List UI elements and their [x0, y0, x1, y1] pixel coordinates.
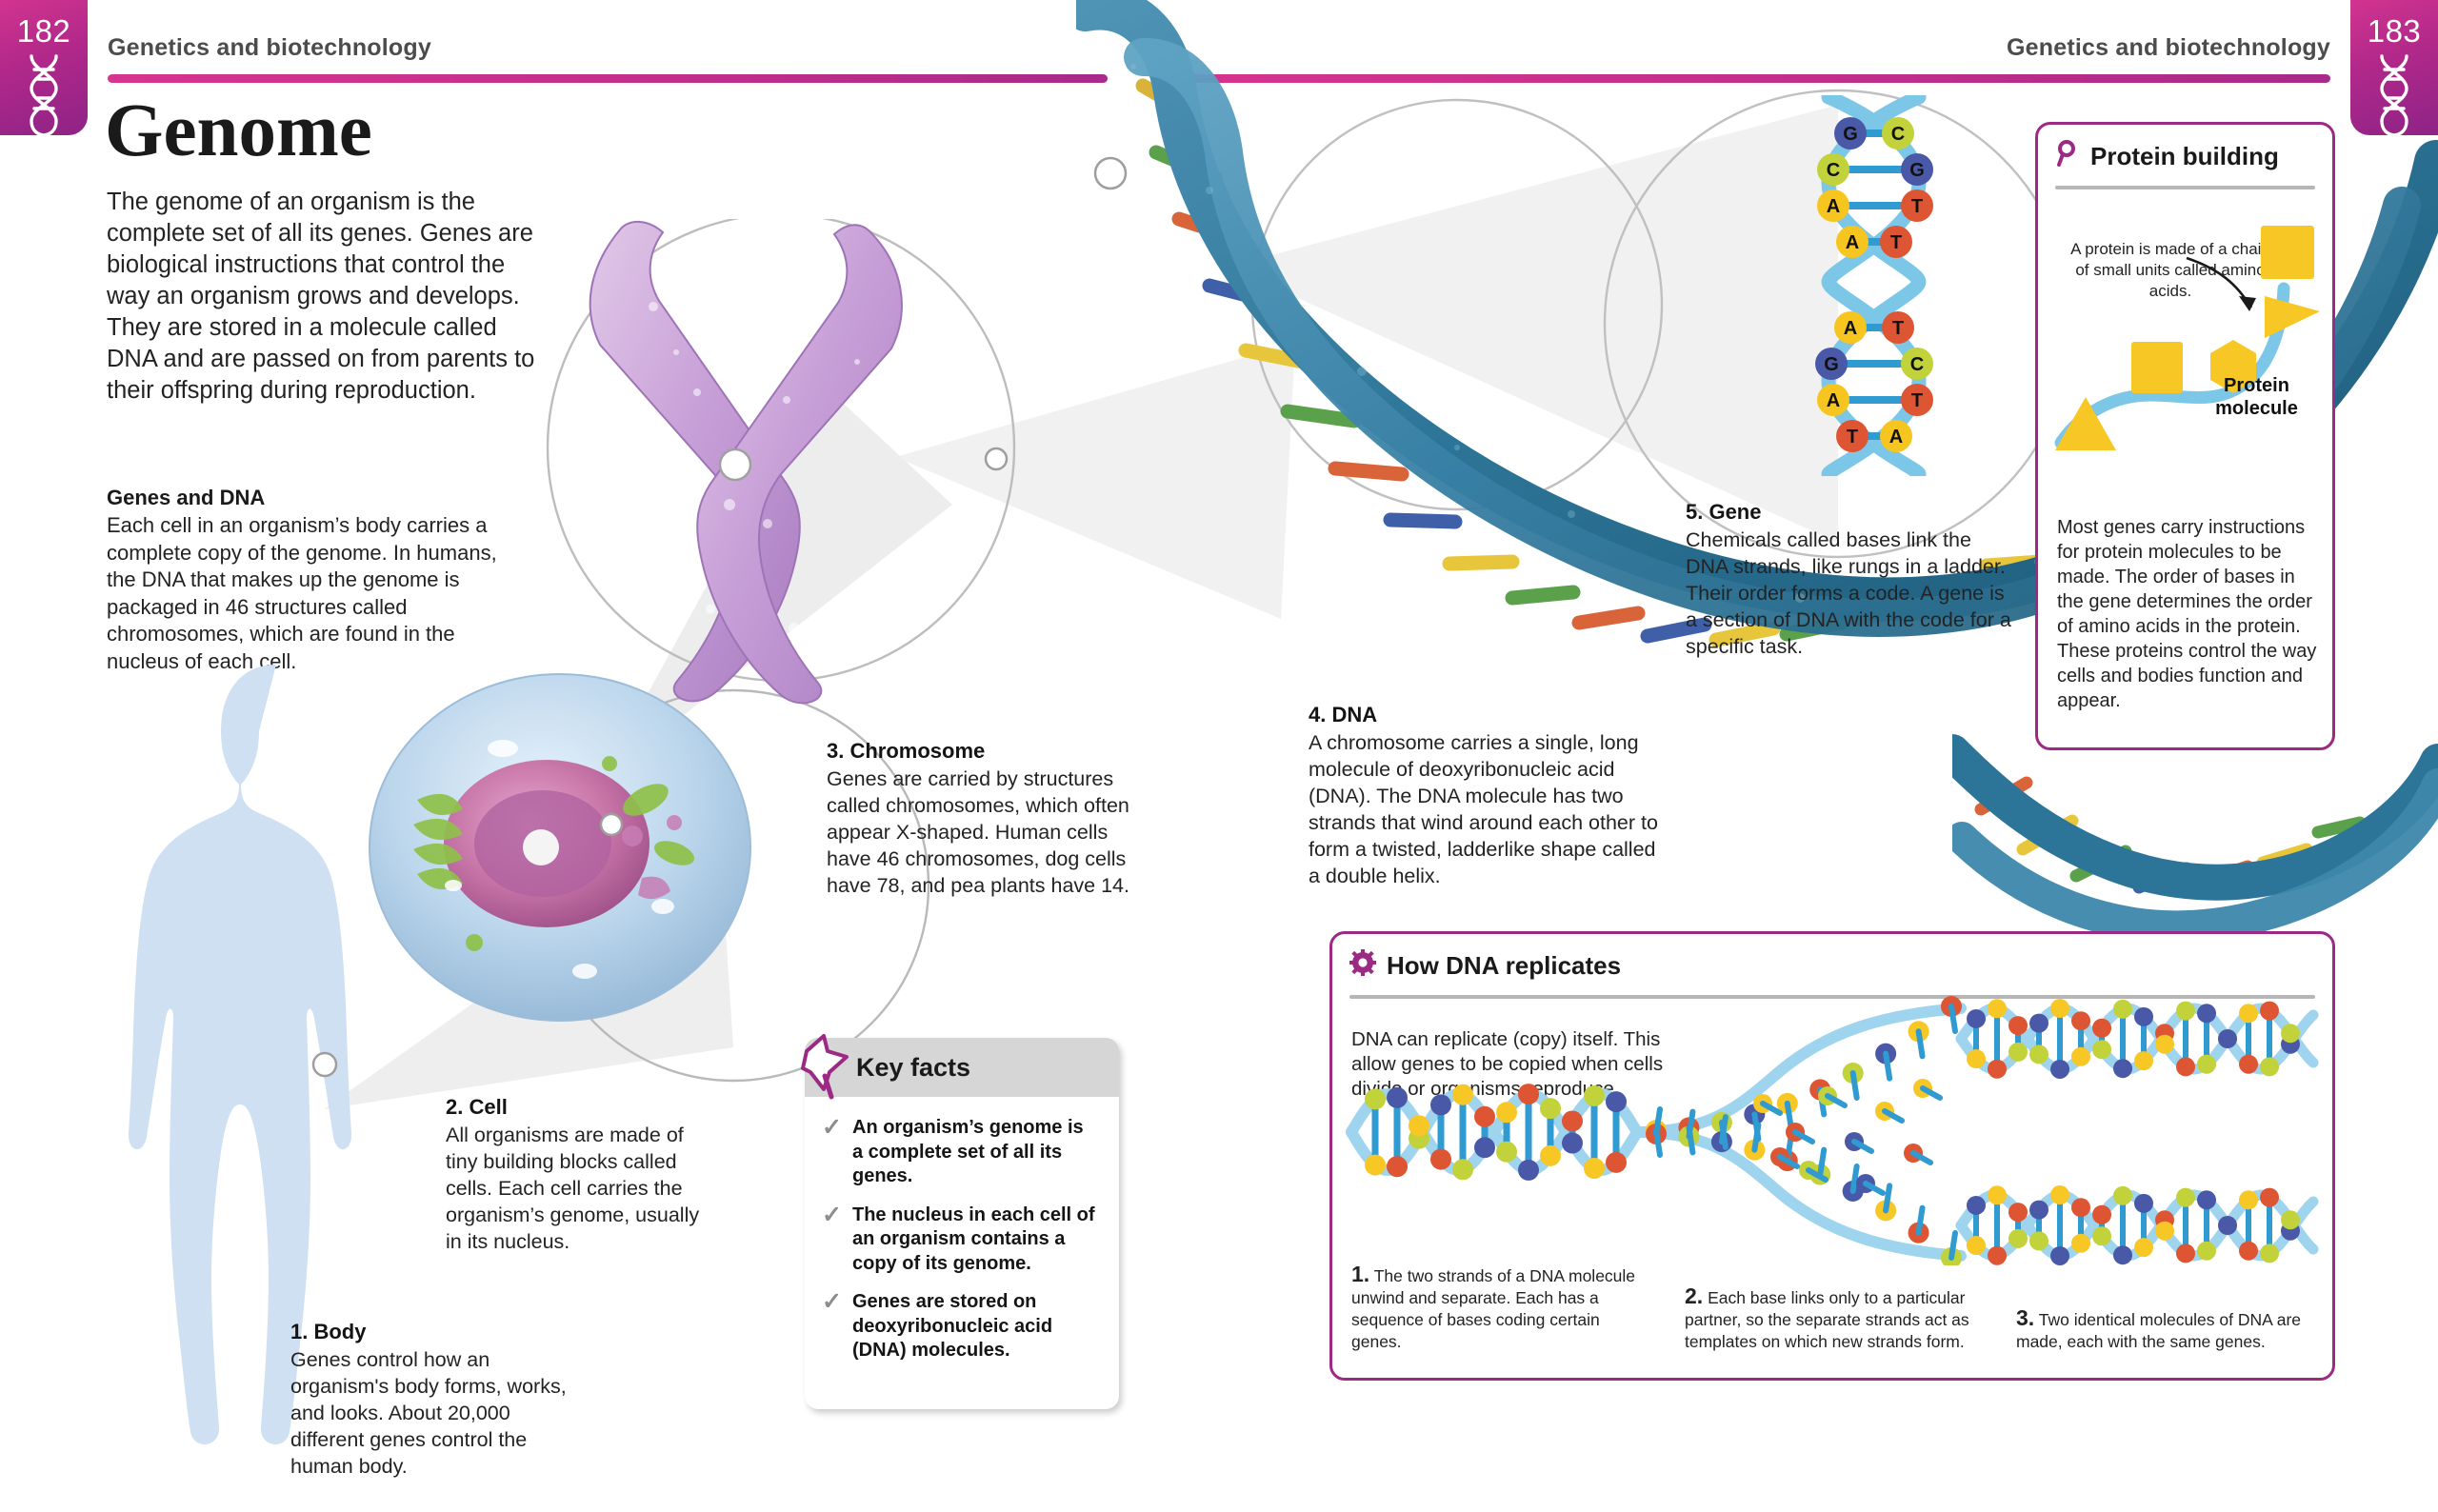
replication-step-text: The two strands of a DNA molecule unwind…: [1351, 1266, 1635, 1351]
gene-base-pair-diagram: GCCGATATATGCATTA: [1776, 95, 1976, 476]
cell-illustration: [360, 657, 760, 1038]
check-icon: ✓: [822, 1290, 843, 1363]
callout-body-body: Genes control how an organism's body for…: [290, 1346, 586, 1480]
svg-text:C: C: [1827, 160, 1840, 181]
callout-dot-chromosome: [983, 446, 1009, 472]
svg-text:C: C: [1891, 124, 1905, 145]
callout-body-chromosome: Genes are carried by structures called c…: [827, 766, 1141, 899]
panel-divider: [2055, 186, 2315, 189]
key-fact-text: An organism’s genome is a complete set o…: [852, 1116, 1098, 1189]
svg-text:A: A: [1889, 427, 1903, 448]
encyclopedia-spread: 182 183: [0, 0, 2438, 1512]
pin-icon: [799, 1030, 860, 1105]
callout-body-gene: Chemicals called bases link the DNA stra…: [1686, 527, 2014, 660]
replication-step-text: Each base links only to a particular par…: [1685, 1288, 1969, 1351]
check-icon: ✓: [822, 1116, 843, 1189]
dna-helix-icon: [24, 54, 64, 141]
svg-text:G: G: [1909, 160, 1925, 181]
protein-molecule-label: Protein molecule: [2181, 374, 2332, 420]
svg-text:A: A: [1846, 232, 1859, 253]
key-fact-text: Genes are stored on deoxyribonucleic aci…: [852, 1290, 1098, 1363]
svg-text:C: C: [1910, 354, 1924, 375]
svg-text:G: G: [1824, 354, 1839, 375]
replication-step-number: 1.: [1351, 1262, 1369, 1286]
replication-panel-header: How DNA replicates: [1332, 934, 2332, 983]
svg-text:A: A: [1827, 196, 1840, 217]
svg-text:T: T: [1911, 196, 1923, 217]
key-fact-item: ✓ An organism’s genome is a complete set…: [822, 1116, 1098, 1189]
key-fact-item: ✓ Genes are stored on deoxyribonucleic a…: [822, 1290, 1098, 1363]
callout-dot-body: [310, 1050, 339, 1079]
replication-step-number: 2.: [1685, 1283, 1703, 1308]
callout-dot-cell: [598, 811, 625, 838]
check-icon: ✓: [822, 1204, 843, 1277]
dna-replication-panel: How DNA replicates DNA can replicate (co…: [1329, 931, 2335, 1381]
callout-heading-body: 1. Body: [290, 1320, 366, 1344]
svg-text:T: T: [1911, 390, 1923, 411]
section-heading-genes-and-dna: Genes and DNA: [107, 486, 265, 510]
svg-text:G: G: [1843, 124, 1858, 145]
protein-panel-title: Protein building: [2090, 142, 2279, 171]
protein-panel-header: Protein building: [2038, 125, 2332, 173]
magnifier-icon: [2055, 140, 2080, 173]
replication-step-text: Two identical molecules of DNA are made,…: [2016, 1310, 2301, 1351]
callout-heading-cell: 2. Cell: [446, 1095, 508, 1120]
callout-heading-chromosome: 3. Chromosome: [827, 739, 985, 764]
svg-text:A: A: [1844, 318, 1857, 339]
key-fact-text: The nucleus in each cell of an organism …: [852, 1204, 1098, 1277]
page-number-left: 182: [17, 15, 71, 47]
gear-icon: [1349, 949, 1376, 983]
running-head-left: Genetics and biotechnology: [108, 34, 431, 62]
replication-step: 1. The two strands of a DNA molecule unw…: [1351, 1263, 1654, 1353]
svg-text:A: A: [1827, 390, 1840, 411]
callout-body-cell: All organisms are made of tiny building …: [446, 1122, 712, 1255]
header-rule-left: [108, 74, 1108, 83]
key-fact-item: ✓ The nucleus in each cell of an organis…: [822, 1204, 1098, 1277]
protein-panel-body: Most genes carry instructions for protei…: [2057, 515, 2322, 713]
replication-step: 3. Two identical molecules of DNA are ma…: [2016, 1307, 2319, 1353]
page-title: Genome: [105, 93, 372, 169]
key-facts-list: ✓ An organism’s genome is a complete set…: [805, 1097, 1119, 1363]
replication-panel-title: How DNA replicates: [1387, 951, 1621, 981]
protein-building-panel: Protein building A protein is made of a …: [2035, 122, 2335, 750]
svg-text:T: T: [1847, 427, 1858, 448]
callout-heading-dna: 4. DNA: [1309, 703, 1377, 727]
svg-text:T: T: [1892, 318, 1904, 339]
page-tab-left: 182: [0, 0, 88, 135]
dna-replication-diagram: [1332, 989, 2332, 1265]
replication-step: 2. Each base links only to a particular …: [1685, 1285, 1988, 1353]
svg-text:T: T: [1890, 232, 1902, 253]
callout-body-dna: A chromosome carries a single, long mole…: [1309, 729, 1661, 889]
replication-step-number: 3.: [2016, 1305, 2034, 1330]
callout-heading-gene: 5. Gene: [1686, 500, 1761, 525]
